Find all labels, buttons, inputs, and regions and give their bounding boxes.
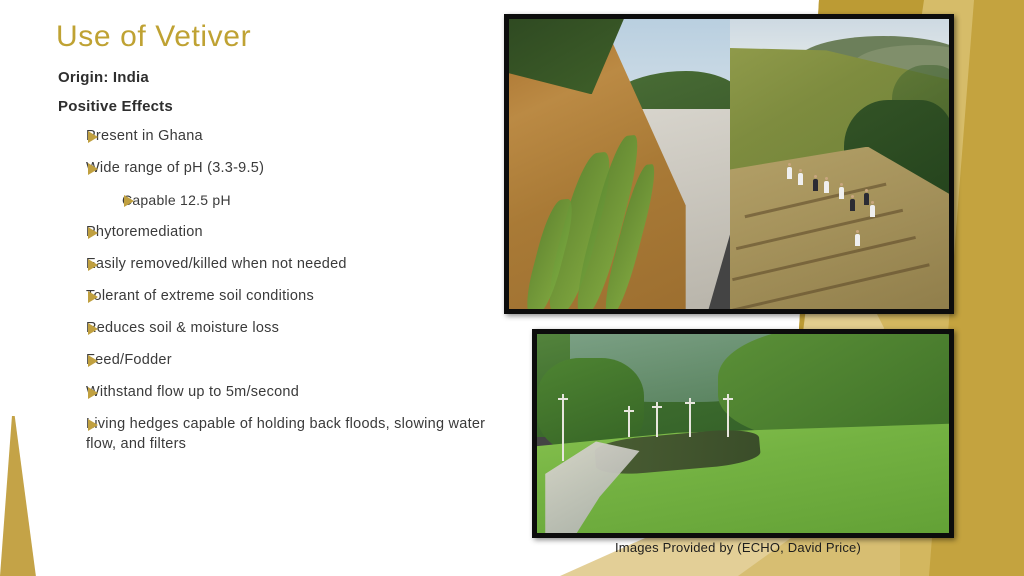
worker-figure [813,179,818,191]
triangle-bullet-icon [88,323,98,335]
bullet-text: Feed/Fodder [86,352,172,368]
worker-figure [870,205,875,217]
bullet-item: Easily removed/killed when not needed [56,255,486,274]
bullet-item: Feed/Fodder [56,351,486,370]
worker-figure [839,187,844,199]
bullet-item: Living hedges capable of holding back fl… [56,415,486,453]
bullet-text: Phytoremediation [86,224,203,240]
utility-pole [656,402,658,438]
triangle-bullet-icon [88,163,98,175]
utility-pole [689,398,691,438]
bullet-item: Present in Ghana [56,127,486,146]
photo-roadside-embankment [509,19,730,309]
utility-pole [628,406,630,438]
bullet-item: Withstand flow up to 5m/second [56,383,486,402]
worker-figure [787,167,792,179]
bullet-text: Wide range of pH (3.3-9.5) [86,160,264,176]
tree-trunk [562,394,564,462]
tree-canopy-right [718,329,954,441]
page-title: Use of Vetiver [56,20,486,53]
bullet-text: Easily removed/killed when not needed [86,256,347,272]
bullet-text: Living hedges capable of holding back fl… [86,416,485,451]
triangle-bullet-icon [88,387,98,399]
photo-top-pair [504,14,954,314]
utility-pole [727,394,729,438]
decor-left-gold-spike [0,416,46,576]
photo-stream-vetiver-field [532,329,954,538]
triangle-bullet-icon [124,195,134,207]
triangle-bullet-icon [88,291,98,303]
bullet-text: Withstand flow up to 5m/second [86,384,299,400]
bullet-item: Wide range of pH (3.3-9.5) [56,159,486,178]
photo-terraced-hillside [730,19,949,309]
triangle-bullet-icon [88,227,98,239]
bullet-text: Reduces soil & moisture loss [86,320,279,336]
positive-effects-heading: Positive Effects [58,98,486,115]
bullet-text: Capable 12.5 pH [122,192,231,208]
origin-line: Origin: India [58,69,486,86]
content-column: Use of Vetiver Origin: India Positive Ef… [56,20,486,467]
triangle-bullet-icon [88,355,98,367]
slide-canvas: Use of Vetiver Origin: India Positive Ef… [0,0,1024,576]
sub-bullet-item: Capable 12.5 pH [56,191,486,209]
bullet-text: Tolerant of extreme soil conditions [86,288,314,304]
bullet-list: Present in GhanaWide range of pH (3.3-9.… [56,127,486,454]
bullet-text: Present in Ghana [86,128,203,144]
worker-figure [864,193,869,205]
triangle-bullet-icon [88,419,98,431]
worker-figure [824,181,829,193]
bullet-item: Tolerant of extreme soil conditions [56,287,486,306]
bullet-item: Reduces soil & moisture loss [56,319,486,338]
bullet-item: Phytoremediation [56,223,486,242]
worker-figure [850,199,855,211]
worker-figure [855,234,860,246]
worker-figure [798,173,803,185]
triangle-bullet-icon [88,131,98,143]
triangle-bullet-icon [88,259,98,271]
image-credit-caption: Images Provided by (ECHO, David Price) [532,540,944,555]
